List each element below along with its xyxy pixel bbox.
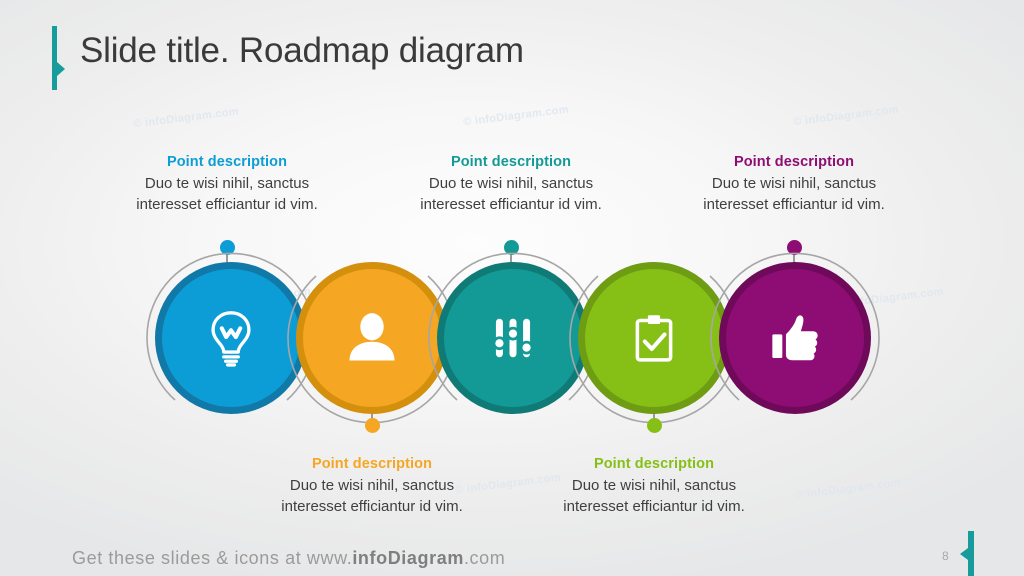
text-block-idea: Point description Duo te wisi nihil, san… — [119, 154, 335, 215]
text-block-checklist: Point description Duo te wisi nihil, san… — [546, 456, 762, 517]
text-block-settings: Point description Duo te wisi nihil, san… — [403, 154, 619, 215]
point-heading: Point description — [686, 154, 902, 170]
point-heading: Point description — [264, 456, 480, 472]
point-body: Duo te wisi nihil, sanctus interesset ef… — [403, 174, 619, 215]
node-circle-approval[interactable] — [719, 262, 871, 414]
clipboard-check-icon — [626, 310, 682, 366]
sliders-icon — [485, 310, 541, 366]
footer-suffix: .com — [464, 548, 505, 568]
watermark: © infoDiagram.com — [133, 106, 240, 131]
slide-canvas: © infoDiagram.com © infoDiagram.com © in… — [0, 0, 1024, 576]
point-heading: Point description — [546, 456, 762, 472]
footer-text: Get these slides & icons at www.infoDiag… — [72, 548, 505, 569]
point-body: Duo te wisi nihil, sanctus interesset ef… — [546, 476, 762, 517]
footer-brand: infoDiagram — [352, 548, 464, 568]
node-people[interactable] — [296, 262, 448, 414]
user-icon — [342, 308, 402, 368]
point-heading: Point description — [119, 154, 335, 170]
watermark: © infoDiagram.com — [795, 477, 902, 502]
text-block-approval: Point description Duo te wisi nihil, san… — [686, 154, 902, 215]
point-body: Duo te wisi nihil, sanctus interesset ef… — [264, 476, 480, 517]
lightbulb-icon — [200, 307, 262, 369]
node-settings[interactable] — [437, 262, 589, 414]
thumbs-up-icon — [766, 309, 824, 367]
page-accent-bar — [968, 531, 974, 576]
point-heading: Point description — [403, 154, 619, 170]
node-idea[interactable] — [155, 262, 307, 414]
page-number: 8 — [942, 549, 949, 563]
connector-dot-people — [365, 418, 380, 433]
node-circle-settings[interactable] — [437, 262, 589, 414]
title-accent-bar — [52, 26, 57, 90]
watermark: © infoDiagram.com — [793, 104, 900, 129]
text-block-people: Point description Duo te wisi nihil, san… — [264, 456, 480, 517]
node-circle-people[interactable] — [296, 262, 448, 414]
point-body: Duo te wisi nihil, sanctus interesset ef… — [686, 174, 902, 215]
page-title: Slide title. Roadmap diagram — [80, 31, 524, 71]
node-circle-idea[interactable] — [155, 262, 307, 414]
footer-prefix: Get these slides & icons at www. — [72, 548, 352, 568]
watermark: © infoDiagram.com — [463, 104, 570, 129]
node-circle-checklist[interactable] — [578, 262, 730, 414]
connector-dot-checklist — [647, 418, 662, 433]
node-checklist[interactable] — [578, 262, 730, 414]
point-body: Duo te wisi nihil, sanctus interesset ef… — [119, 174, 335, 215]
node-approval[interactable] — [719, 262, 871, 414]
